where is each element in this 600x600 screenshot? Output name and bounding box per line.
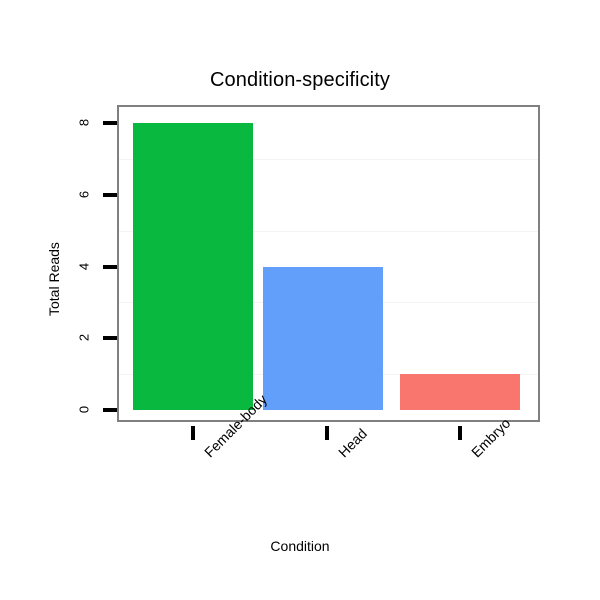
x-axis-tick-label: Female-body <box>201 449 212 460</box>
y-axis-tick-label: 0 <box>78 398 91 422</box>
y-axis-tick-mark <box>103 408 117 412</box>
y-axis-tick-mark <box>103 121 117 125</box>
y-axis-tick-mark <box>103 265 117 269</box>
bar <box>400 374 520 410</box>
y-axis-tick-mark <box>103 193 117 197</box>
y-axis-title: Total Reads <box>46 298 62 316</box>
bars-layer <box>119 107 538 420</box>
y-axis-tick-mark <box>103 336 117 340</box>
chart-title: Condition-specificity <box>0 68 600 92</box>
x-axis-tick-mark <box>325 426 329 440</box>
bar <box>263 267 383 411</box>
bar <box>133 123 253 410</box>
x-axis-tick-mark <box>191 426 195 440</box>
x-axis-tick-mark <box>458 426 462 440</box>
plot-panel <box>117 105 540 422</box>
y-axis-tick-label: 6 <box>78 182 91 206</box>
y-axis-tick-label: 4 <box>78 254 91 278</box>
y-axis-tick-label: 8 <box>78 111 91 135</box>
x-axis-title: Condition <box>0 537 600 555</box>
y-axis-tick-label: 2 <box>78 326 91 350</box>
x-axis-tick-label: Embryo <box>468 449 479 460</box>
bar-chart-figure: Condition-specificity 02468 Female-bodyH… <box>0 0 600 600</box>
x-axis-tick-label: Head <box>335 449 346 460</box>
